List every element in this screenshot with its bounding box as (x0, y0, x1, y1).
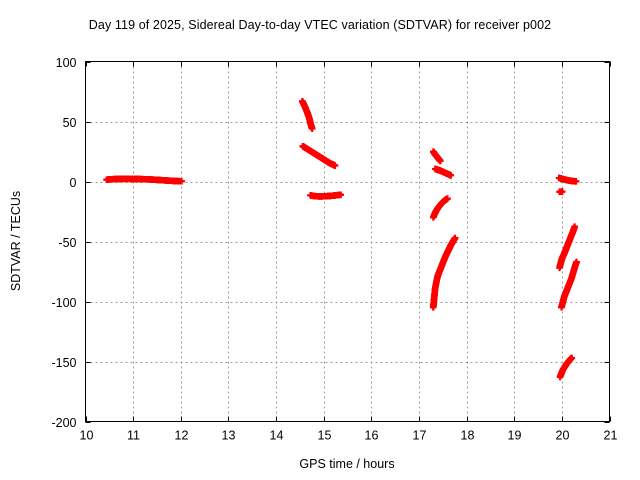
x-tick-label: 16 (365, 429, 379, 443)
data-series (556, 175, 580, 185)
data-series (556, 188, 565, 195)
y-tick-label: 50 (63, 116, 77, 130)
y-tick-label: 100 (56, 56, 77, 70)
data-series (300, 143, 339, 169)
data-series (299, 98, 315, 132)
x-axis-ticks: 101112131415161718192021 (80, 62, 618, 443)
x-tick-label: 18 (461, 429, 475, 443)
x-tick-label: 10 (80, 429, 94, 443)
x-tick-label: 21 (604, 429, 618, 443)
y-tick-label: 0 (70, 176, 77, 190)
data-points-layer (103, 98, 580, 380)
x-tick-label: 14 (270, 429, 284, 443)
y-tick-label: -200 (51, 416, 76, 430)
data-series (307, 192, 344, 200)
y-tick-label: -100 (51, 296, 76, 310)
data-series (430, 235, 458, 311)
y-tick-label: -150 (51, 356, 76, 370)
x-tick-label: 13 (222, 429, 236, 443)
x-tick-label: 19 (508, 429, 522, 443)
plot-frame (86, 62, 610, 422)
gridlines (86, 62, 610, 422)
y-tick-label: -50 (58, 236, 76, 250)
x-axis-title: GPS time / hours (299, 457, 394, 471)
x-tick-label: 12 (175, 429, 189, 443)
y-axis-title: SDTVAR / TECUs (9, 191, 23, 291)
x-tick-label: 11 (127, 429, 140, 443)
data-series (103, 176, 185, 185)
x-tick-label: 15 (318, 429, 332, 443)
data-series (557, 355, 575, 381)
data-series (432, 166, 454, 179)
x-tick-label: 20 (556, 429, 570, 443)
data-series (430, 195, 451, 220)
scatter-plot: 101112131415161718192021 100500-50-100-1… (0, 0, 640, 480)
data-series (430, 148, 444, 164)
x-tick-label: 17 (413, 429, 427, 443)
chart-container: Day 119 of 2025, Sidereal Day-to-day VTE… (0, 0, 640, 480)
